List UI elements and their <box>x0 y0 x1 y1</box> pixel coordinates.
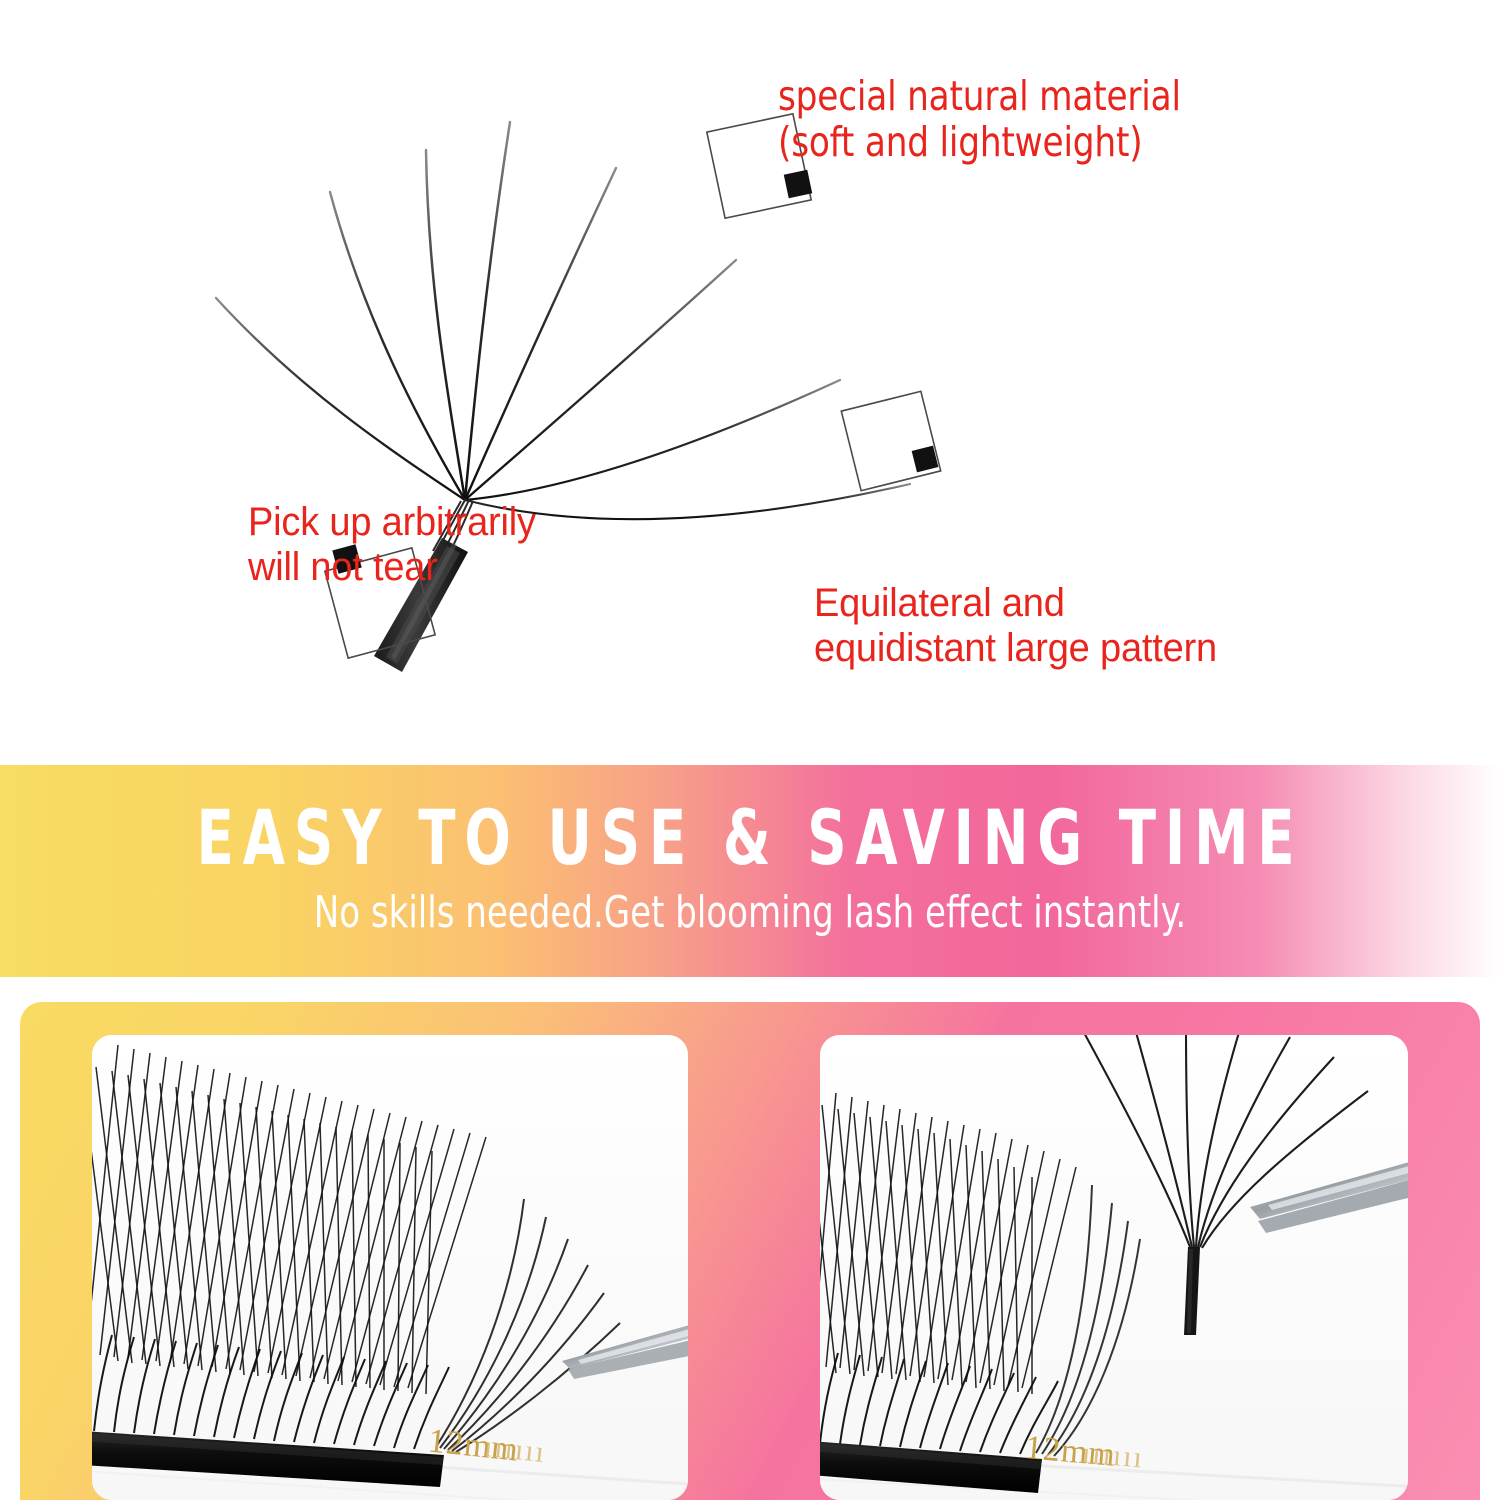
lash-strip-photo <box>92 1035 688 1500</box>
photo-card-right: 12mm ıııııı <box>820 1035 1408 1500</box>
product-photo-panel: 12mm ıııııı <box>20 1002 1480 1500</box>
headline-banner: EASY TO USE & SAVING TIME No skills need… <box>0 765 1500 977</box>
callout-special-natural-material: special natural material (soft and light… <box>778 74 1181 166</box>
single-fan-photo <box>820 1035 1408 1500</box>
banner-title: EASY TO USE & SAVING TIME <box>150 793 1350 882</box>
marker-equilateral <box>841 391 940 490</box>
tray-size-ghost-right: ıııııı <box>1081 1436 1146 1475</box>
callout-equilateral-equidistant: Equilateral and equidistant large patter… <box>814 581 1217 671</box>
banner-subtitle: No skills needed.Get blooming lash effec… <box>105 887 1395 938</box>
photo-card-left: 12mm ıııııı <box>92 1035 688 1500</box>
top-diagram-section: special natural material (soft and light… <box>0 0 1500 752</box>
tray-size-ghost-left: ıııııı <box>482 1430 547 1470</box>
callout-pick-up-arbitrarily: Pick up arbitrarily will not tear <box>248 500 536 590</box>
